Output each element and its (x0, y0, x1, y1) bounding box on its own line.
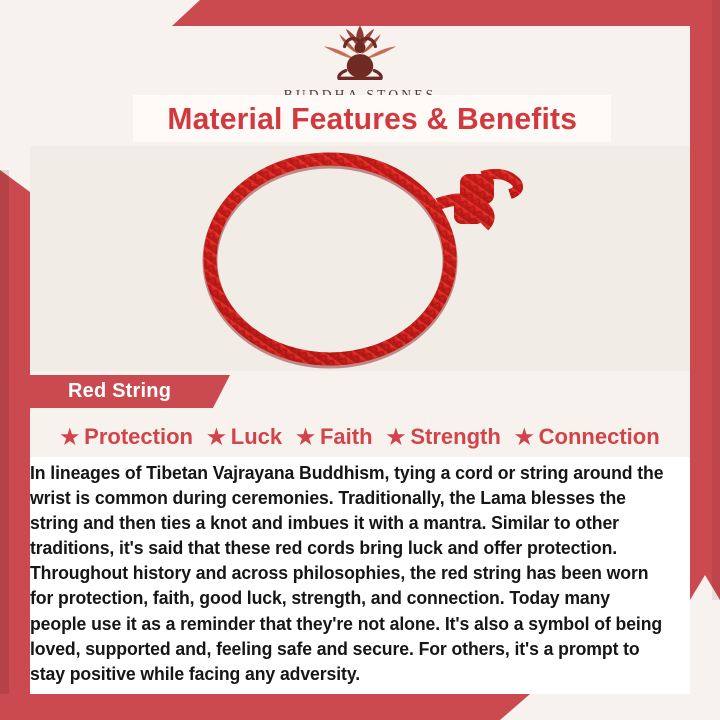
description-panel: In lineages of Tibetan Vajrayana Buddhis… (30, 457, 690, 694)
benefit-protection: ★ Protection (60, 424, 193, 450)
benefits-row: ★ Protection ★ Luck ★ Faith ★ Strength ★… (30, 419, 690, 455)
star-icon: ★ (207, 427, 226, 448)
star-icon: ★ (387, 427, 406, 448)
infographic-page: BUDDHA STONES Material Features & Benefi… (0, 0, 720, 720)
benefit-luck: ★ Luck (207, 424, 282, 450)
star-icon: ★ (296, 427, 315, 448)
benefit-connection: ★ Connection (515, 424, 660, 450)
brand-logo: BUDDHA STONES (0, 22, 720, 103)
benefit-faith: ★ Faith (296, 424, 372, 450)
benefit-label: Strength (410, 424, 500, 450)
benefit-strength: ★ Strength (387, 424, 501, 450)
title-panel: Material Features & Benefits (133, 95, 611, 142)
benefit-label: Connection (539, 424, 660, 450)
product-image-area (30, 146, 690, 371)
benefit-label: Luck (231, 424, 282, 450)
benefit-label: Faith (320, 424, 373, 450)
frame-bottom-band (0, 694, 560, 720)
frame-left-shadow (0, 170, 9, 720)
red-string-bracelet-illustration (30, 146, 690, 371)
star-icon: ★ (515, 427, 534, 448)
description-text: In lineages of Tibetan Vajrayana Buddhis… (30, 460, 667, 686)
star-icon: ★ (60, 427, 79, 448)
benefit-label: Protection (84, 424, 193, 450)
ribbon-label: Red String (68, 380, 171, 403)
product-ribbon: Red String (30, 375, 230, 408)
page-title: Material Features & Benefits (167, 101, 577, 137)
lotus-meditation-icon (305, 22, 415, 84)
